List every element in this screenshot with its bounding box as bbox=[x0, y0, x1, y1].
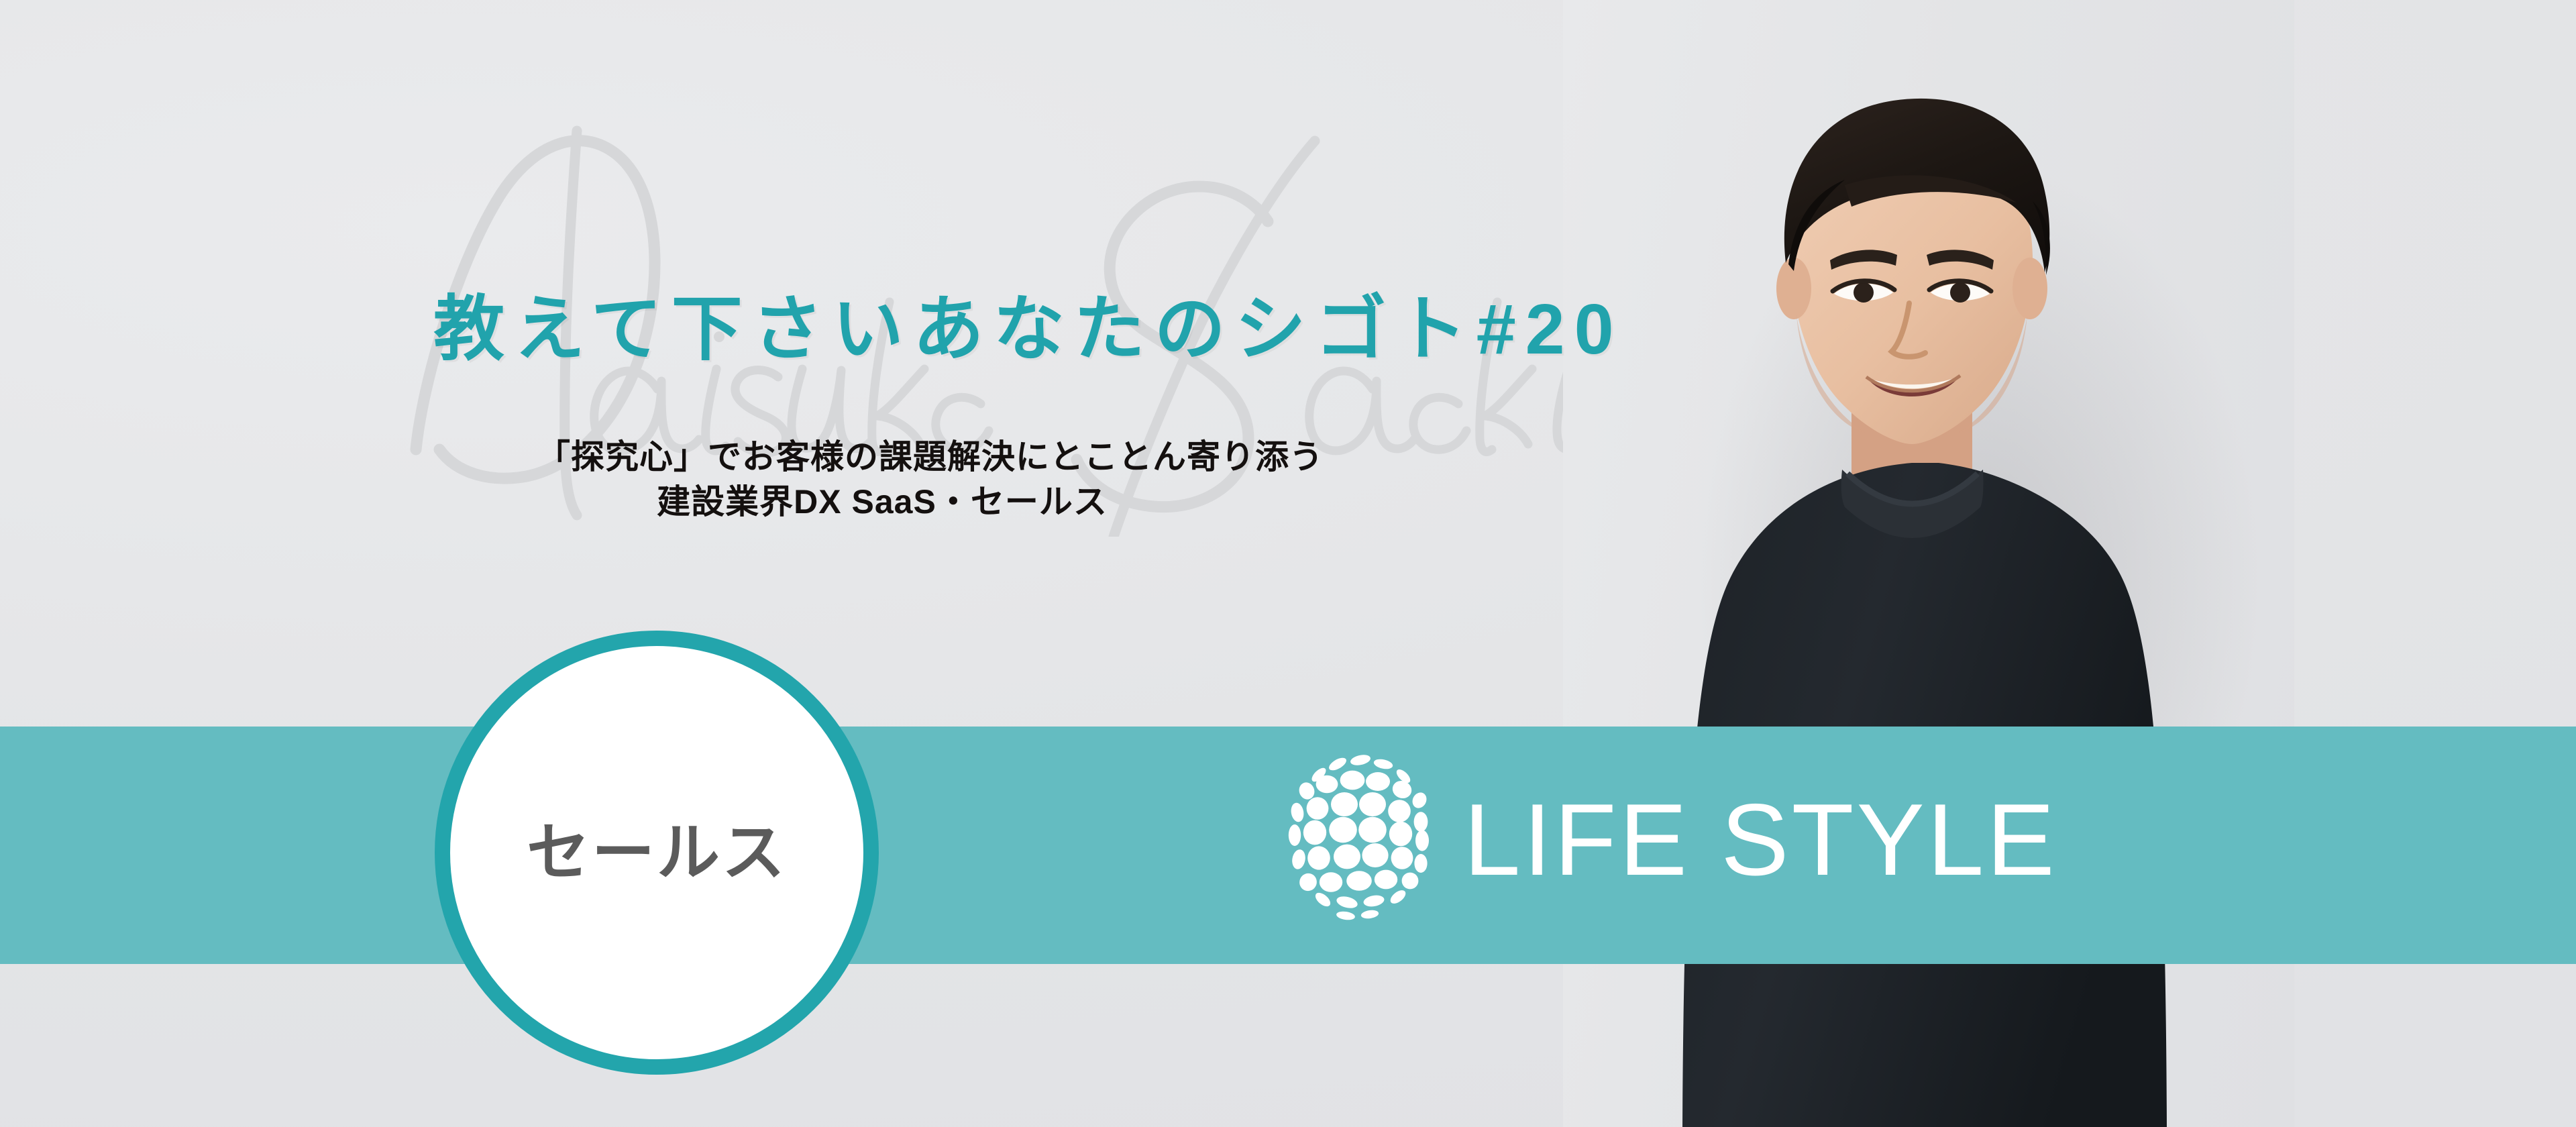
subtitle-line-1: 「探究心」でお客様の課題解決にとことん寄り添う bbox=[537, 435, 1228, 480]
category-badge-label: セールス bbox=[527, 821, 787, 884]
subtitle-line-2: 建設業界DX SaaS・セールス bbox=[537, 480, 1228, 525]
brand-name: LIFE STYLE bbox=[1464, 789, 2057, 891]
hero-banner: 教えて下さいあなたのシゴト#20 「探究心」でお客様の課題解決にとことん寄り添う… bbox=[0, 0, 2576, 1127]
dotted-globe-icon bbox=[1287, 752, 1437, 928]
page-title: 教えて下さいあなたのシゴト#20 bbox=[433, 290, 1623, 370]
category-badge: セールス bbox=[435, 631, 879, 1075]
page-subtitle: 「探究心」でお客様の課題解決にとことん寄り添う 建設業界DX SaaS・セールス bbox=[537, 435, 1228, 525]
brand-lockup: LIFE STYLE bbox=[1287, 750, 2057, 930]
